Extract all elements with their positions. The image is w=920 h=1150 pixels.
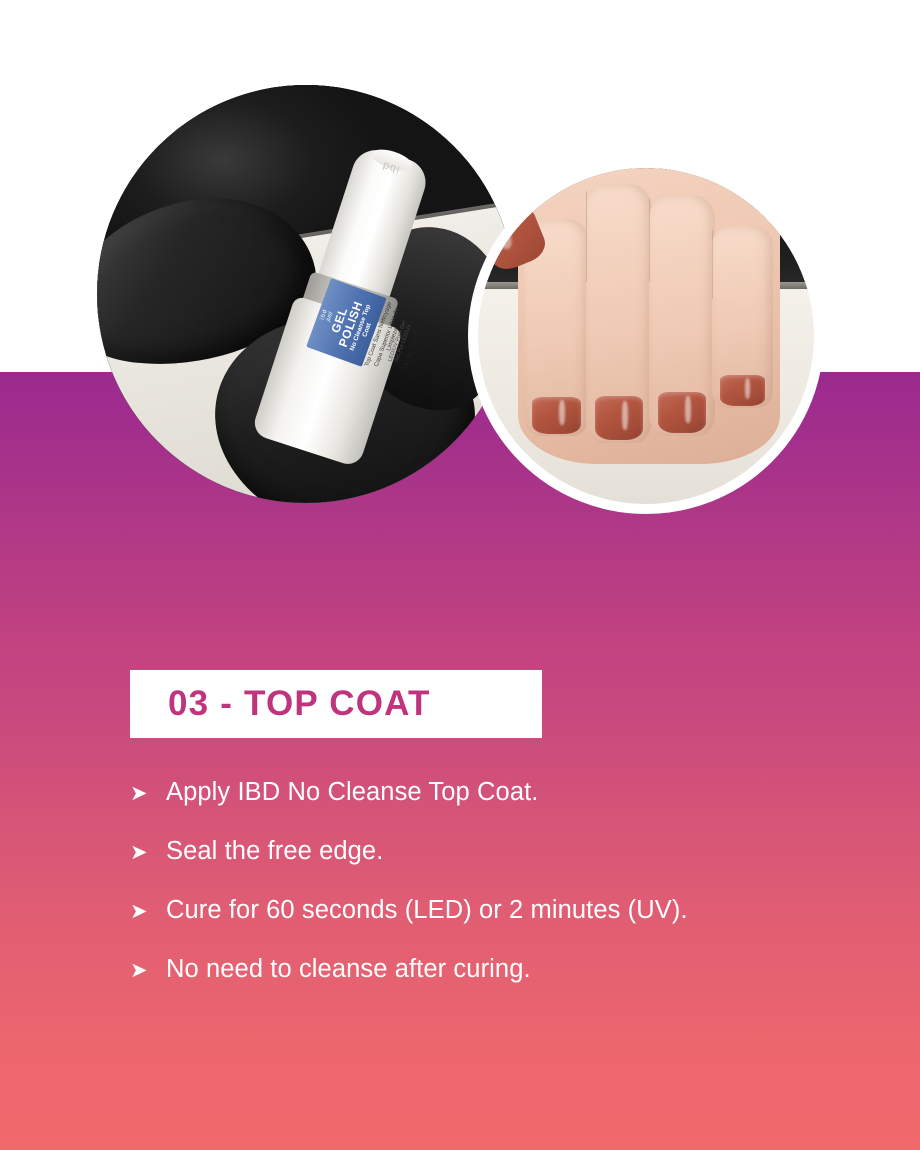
list-item-label: No need to cleanse after curing. [166,955,531,984]
arrow-bullet-icon: ➤ [130,783,166,804]
knuckle-crease-2 [649,198,650,282]
manicure-photo-inner [478,168,814,504]
nail-ring [658,392,706,433]
page-title: 03 - TOP COAT [168,684,431,724]
list-item-label: Seal the free edge. [166,837,383,866]
arrow-bullet-icon: ➤ [130,901,166,922]
list-item: ➤ No need to cleanse after curing. [130,955,870,1014]
photo-circle-bottle: ibd ibd just GEL POLISH No Cleanse Top C… [97,85,515,503]
nail-pinky [720,375,765,406]
list-item-label: Apply IBD No Cleanse Top Coat. [166,778,538,807]
step-title-box: 03 - TOP COAT [130,670,542,738]
poster-page: ibd ibd just GEL POLISH No Cleanse Top C… [0,0,920,1150]
nail-middle [595,396,643,440]
arrow-bullet-icon: ➤ [130,960,166,981]
list-item: ➤ Cure for 60 seconds (LED) or 2 minutes… [130,896,870,955]
list-item: ➤ Apply IBD No Cleanse Top Coat. [130,778,870,837]
instruction-list: ➤ Apply IBD No Cleanse Top Coat. ➤ Seal … [130,778,870,1014]
nail-index [532,397,580,434]
finger-middle [586,184,652,443]
knuckle-crease-3 [712,230,713,300]
arrow-bullet-icon: ➤ [130,842,166,863]
photo-collage: ibd ibd just GEL POLISH No Cleanse Top C… [0,0,920,560]
photo-circle-manicure [468,158,824,514]
hand [518,168,780,464]
list-item: ➤ Seal the free edge. [130,837,870,896]
knuckle-crease-1 [586,191,587,282]
list-item-label: Cure for 60 seconds (LED) or 2 minutes (… [166,896,688,925]
finger-ring [649,195,715,436]
finger-pinky [712,226,772,408]
